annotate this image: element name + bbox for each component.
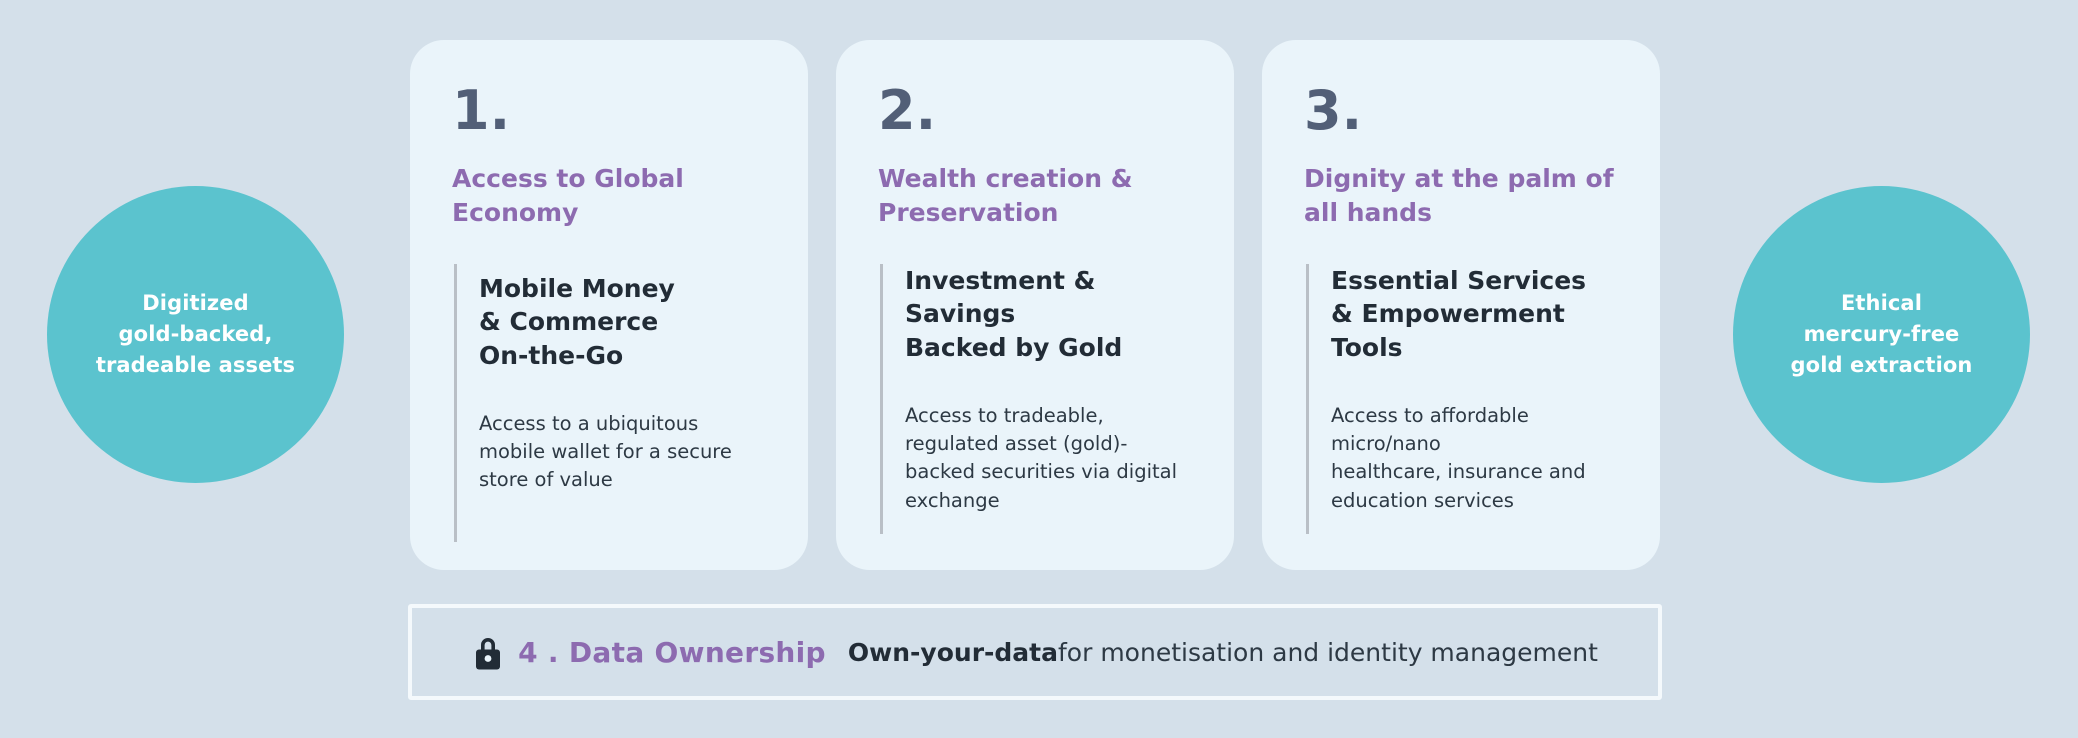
pillar-card-1: 1. Access to Global Economy Mobile Money… [410,40,808,570]
pillar-card-2-heading: Wealth creation & Preservation [878,162,1192,230]
digitized-assets-circle: Digitized gold-backed, tradeable assets [47,186,344,483]
pillar-card-3-number: 3. [1304,84,1618,138]
ethical-extraction-circle-label: Ethical mercury-free gold extraction [1791,288,1973,381]
pillar-card-3-body-text: Access to affordable micro/nano healthca… [1331,402,1618,515]
pillar-card-3: 3. Dignity at the palm of all hands Esse… [1262,40,1660,570]
pillar-card-1-number: 1. [452,84,766,138]
pillar-card-2: 2. Wealth creation & Preservation Invest… [836,40,1234,570]
own-your-data-rest: for monetisation and identity management [1058,638,1598,667]
pillar-card-3-body: Essential Services & Empowerment Tools A… [1306,264,1618,534]
pillar-card-2-body: Investment & Savings Backed by Gold Acce… [880,264,1192,534]
lock-icon [472,634,504,672]
pillar-card-2-number: 2. [878,84,1192,138]
pillar-card-1-body-text: Access to a ubiquitous mobile wallet for… [479,410,766,495]
pillar-card-1-body-title: Mobile Money & Commerce On-the-Go [479,272,766,372]
pillar-card-1-body: Mobile Money & Commerce On-the-Go Access… [454,264,766,542]
pillar-card-3-heading: Dignity at the palm of all hands [1304,162,1618,230]
pillar-card-2-body-title: Investment & Savings Backed by Gold [905,264,1192,364]
digitized-assets-circle-label: Digitized gold-backed, tradeable assets [96,288,295,381]
pillar-card-1-heading: Access to Global Economy [452,162,766,230]
pillar-card-2-body-text: Access to tradeable, regulated asset (go… [905,402,1192,515]
ethical-extraction-circle: Ethical mercury-free gold extraction [1733,186,2030,483]
data-ownership-bar: 4 . Data Ownership Own-your-data for mon… [408,604,1662,700]
data-ownership-label: 4 . Data Ownership [518,636,826,669]
own-your-data-strong: Own-your-data [848,638,1058,667]
infographic-stage: Digitized gold-backed, tradeable assets … [0,0,2078,738]
pillar-card-3-body-title: Essential Services & Empowerment Tools [1331,264,1618,364]
